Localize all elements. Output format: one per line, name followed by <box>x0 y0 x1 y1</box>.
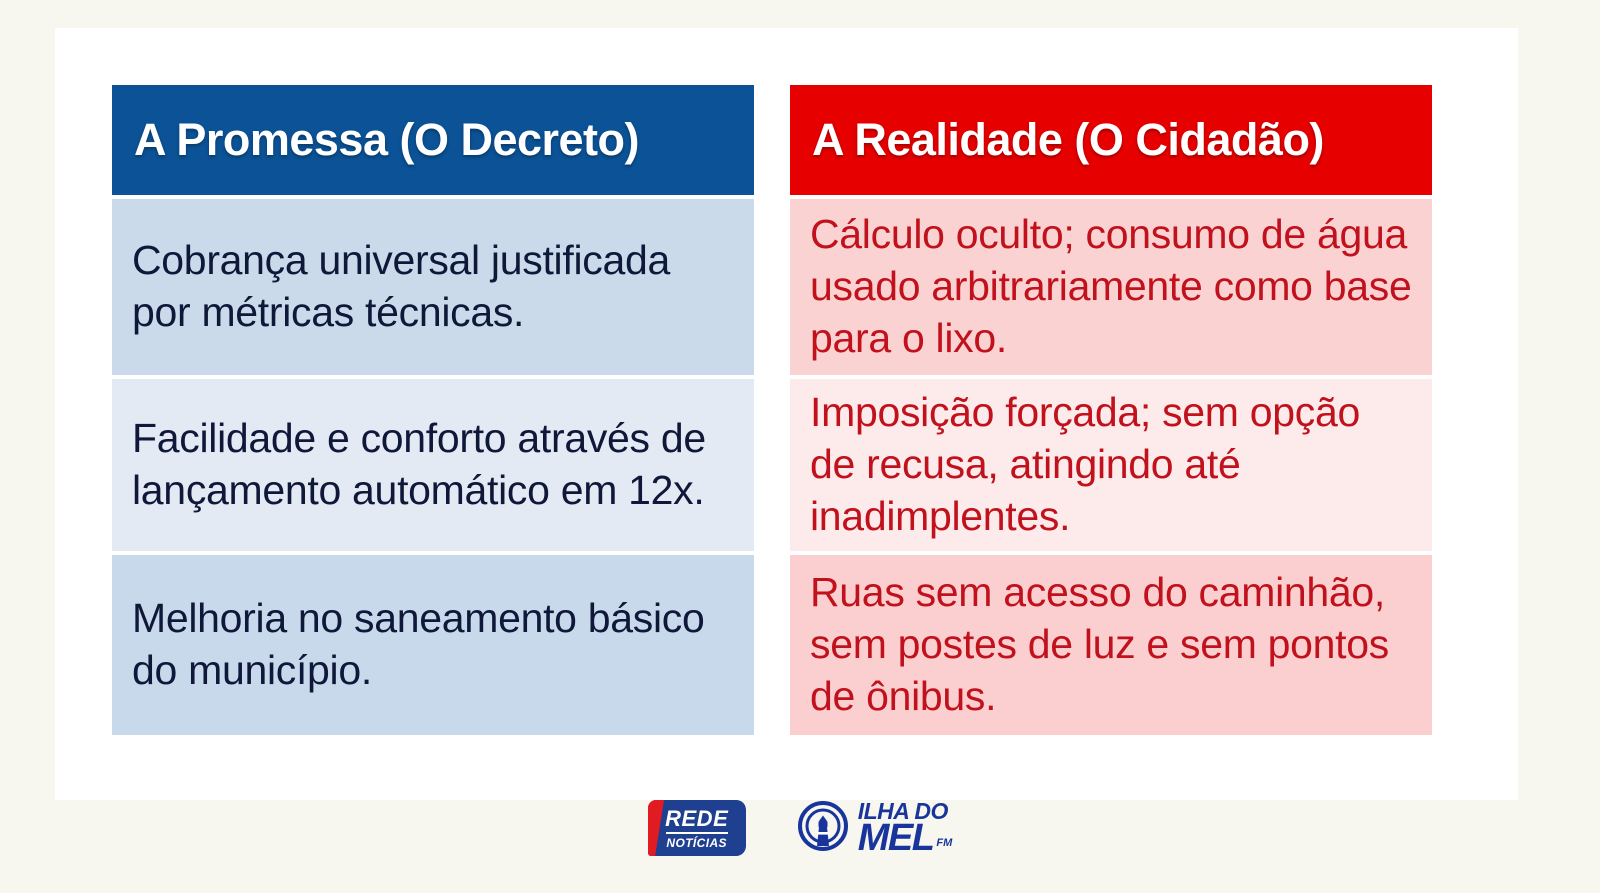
reality-row-1: Cálculo oculto; consumo de água usado ar… <box>790 199 1432 375</box>
promise-row-1: Cobrança universal justificada por métri… <box>112 199 754 375</box>
promise-row-3: Melhoria no saneamento básico do municíp… <box>112 555 754 735</box>
ilha-do-mel-logo: ILHA DO MEL FM <box>798 801 953 856</box>
ilha-do-mel-line2-row: MEL FM <box>858 822 953 855</box>
promise-column-header: A Promessa (O Decreto) <box>112 85 754 195</box>
rede-noticias-logo: REDE NOTÍCIAS <box>648 800 746 856</box>
ilha-do-mel-fm-suffix: FM <box>936 839 952 854</box>
reality-column: A Realidade (O Cidadão) Cálculo oculto; … <box>790 85 1432 735</box>
rede-logo-divider <box>666 832 728 834</box>
reality-column-header: A Realidade (O Cidadão) <box>790 85 1432 195</box>
reality-row-2: Imposição forçada; sem opção de recusa, … <box>790 379 1432 551</box>
reality-row-3: Ruas sem acesso do caminhão, sem postes … <box>790 555 1432 735</box>
lighthouse-icon <box>798 801 848 856</box>
footer-logo-bar: REDE NOTÍCIAS ILHA DO MEL FM <box>0 788 1600 868</box>
promise-row-2: Facilidade e conforto através de lançame… <box>112 379 754 551</box>
rede-logo-word-noticias: NOTÍCIAS <box>666 837 727 849</box>
rede-logo-word-rede: REDE <box>665 808 728 830</box>
ilha-do-mel-line2: MEL <box>858 822 934 855</box>
ilha-do-mel-wordmark: ILHA DO MEL FM <box>858 802 953 854</box>
comparison-table: A Promessa (O Decreto) Cobrança universa… <box>112 85 1487 735</box>
promise-column: A Promessa (O Decreto) Cobrança universa… <box>112 85 754 735</box>
content-card: A Promessa (O Decreto) Cobrança universa… <box>55 28 1518 800</box>
